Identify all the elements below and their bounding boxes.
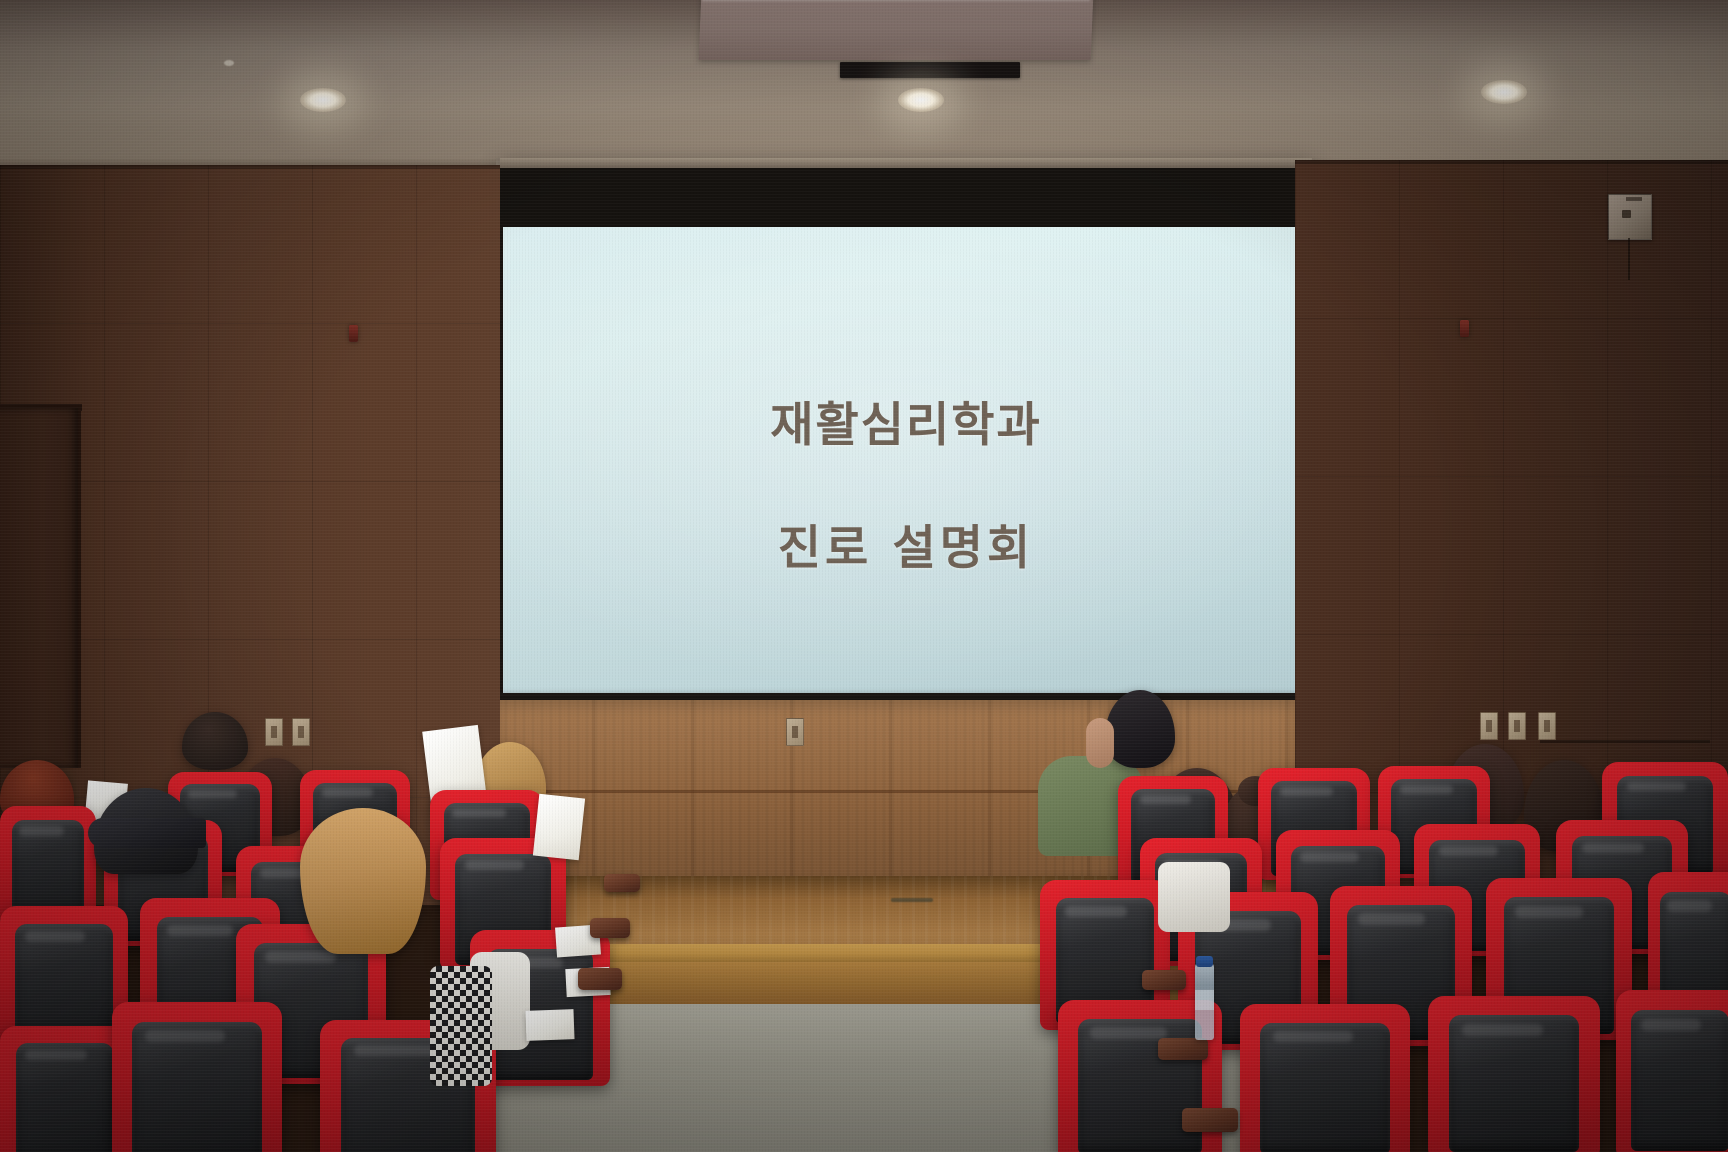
water-bottle-cap (1196, 956, 1213, 967)
seat-right-r4-s3[interactable] (1428, 996, 1600, 1152)
attendee-checkered-skirt (430, 966, 492, 1086)
right-wall-outlet-icon-1 (1480, 712, 1498, 740)
downlight-right-icon (1481, 80, 1527, 104)
ceiling-speck (224, 60, 234, 66)
armrest-right-1 (1142, 970, 1186, 990)
stage-floor-marking (891, 898, 933, 902)
water-bottle-label (1195, 990, 1214, 1010)
soffit-highlight (702, 0, 1090, 1)
seat-left-r4-s0[interactable] (0, 1026, 130, 1152)
auditorium-photo: 재활심리학과 진로 설명회 (0, 0, 1728, 1152)
seat-right-r4-s4[interactable] (1616, 990, 1728, 1152)
stage-wall-outlet-icon (786, 718, 804, 746)
right-wall-outlet-icon-3 (1538, 712, 1556, 740)
emergency-light-left-icon (349, 325, 358, 342)
projection-screen-surface: 재활심리학과 진로 설명회 (503, 227, 1309, 695)
seat-left-r4-s1[interactable] (112, 1002, 282, 1152)
side-exit-door[interactable] (0, 408, 81, 768)
right-wall-top-shadow (1295, 160, 1728, 164)
armrest-right-3 (1182, 1108, 1238, 1132)
left-wall-top-shadow (0, 165, 500, 169)
seat-pad (1260, 1023, 1389, 1152)
seat-pad (1449, 1015, 1580, 1151)
right-wall-conduit (1540, 740, 1710, 743)
right-wall-outlet-icon-2 (1508, 712, 1526, 740)
armrest-right-2 (1158, 1038, 1208, 1060)
emergency-light-right-icon (1460, 320, 1469, 337)
attendee-raised-arm (1086, 718, 1114, 768)
attendee-blonde-long-head (300, 808, 426, 954)
control-panel-conduit (1628, 238, 1630, 280)
seat-pad (16, 1043, 115, 1152)
armrest-left-1 (604, 874, 640, 892)
left-wall-outlet-icon-2 (292, 718, 310, 746)
handout-paper-6 (525, 1009, 574, 1041)
downlight-center-icon (898, 88, 944, 112)
seat-right-r4-s2[interactable] (1240, 1004, 1410, 1152)
downlight-left-icon (300, 88, 346, 112)
ceiling-beam-soffit (699, 0, 1094, 60)
control-panel-screw-strip (1626, 197, 1642, 201)
left-wall-outlet-icon-1 (265, 718, 283, 746)
screen-top-trim (500, 158, 1312, 168)
seat-pad (132, 1022, 261, 1152)
ceiling-slot-vent (840, 62, 1020, 78)
handout-paper-3 (533, 794, 585, 860)
slide-title-line-1: 재활심리학과 (770, 386, 1041, 455)
seat-pad (1631, 1010, 1728, 1151)
armrest-left-3 (578, 968, 622, 990)
slide-title-line-2: 진로 설명회 (778, 509, 1035, 578)
attendee-white-top (1158, 862, 1230, 932)
slide-content: 재활심리학과 진로 설명회 (503, 227, 1309, 695)
armrest-left-2 (590, 918, 630, 938)
cap-brim-icon (88, 818, 206, 848)
